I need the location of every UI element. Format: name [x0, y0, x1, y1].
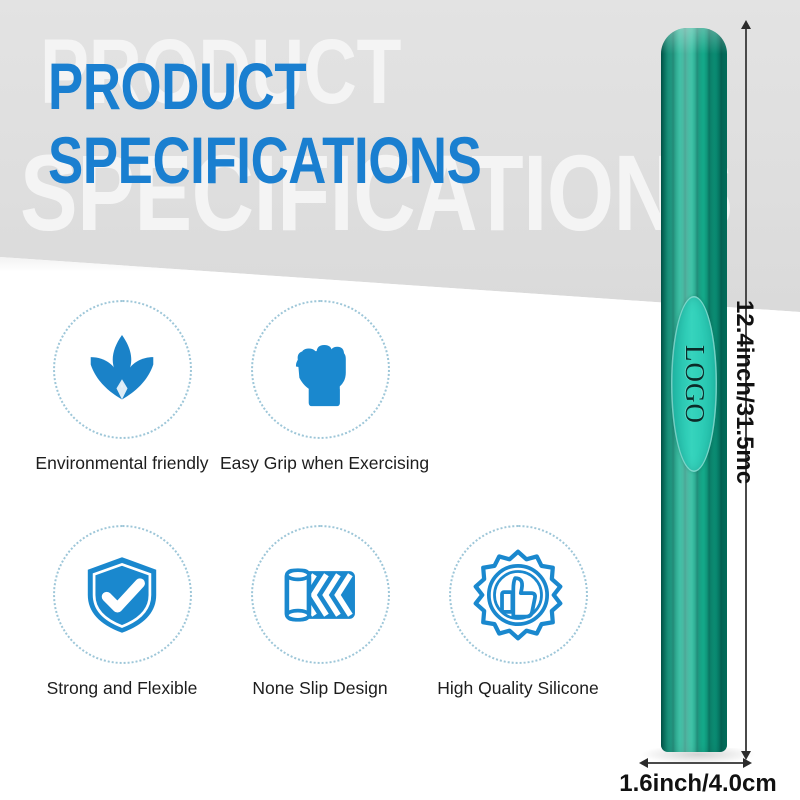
feature-item-high-quality-silicone: High Quality Silicone [418, 525, 618, 699]
feature-icon-circle [251, 300, 390, 439]
width-dimension-label: 1.6inch/4.0cm [603, 770, 793, 798]
rolled-mat-chevron-icon [274, 549, 366, 641]
infographic-canvas: PRODUCT SPECIFICATIONS PRODUCT SPECIFICA… [0, 0, 800, 800]
product-image-silicone-roller: LOGO [661, 28, 727, 752]
feature-item-easy-grip: Easy Grip when Exercising [220, 300, 420, 474]
width-dimension-arrow [647, 762, 744, 764]
feature-label: Strong and Flexible [22, 678, 222, 699]
feature-label: Easy Grip when Exercising [220, 453, 420, 474]
feature-icon-circle [449, 525, 588, 664]
shield-check-icon [77, 550, 167, 640]
feature-label: None Slip Design [220, 678, 420, 699]
feature-label: Environmental friendly [22, 453, 222, 474]
height-dimension-label: 12.4inch/31.5mc [730, 300, 758, 484]
feature-icon-circle [53, 300, 192, 439]
leaf-icon [76, 324, 168, 416]
feature-icon-circle [53, 525, 192, 664]
title-line-2: SPECIFICATIONS [48, 122, 481, 198]
page-title: PRODUCT SPECIFICATIONS PRODUCT SPECIFICA… [0, 0, 700, 250]
fist-icon [277, 327, 363, 413]
feature-grid: Environmental friendly Easy Grip when Ex… [22, 300, 642, 740]
feature-item-none-slip-design: None Slip Design [220, 525, 420, 699]
quality-badge-thumbs-up-icon [471, 548, 565, 642]
feature-icon-circle [251, 525, 390, 664]
product-logo-text: LOGO [679, 345, 710, 424]
feature-item-strong-flexible: Strong and Flexible [22, 525, 222, 699]
title-line-1: PRODUCT [48, 48, 306, 124]
feature-label: High Quality Silicone [418, 678, 618, 699]
product-logo-plate: LOGO [671, 296, 717, 472]
feature-item-environmental-friendly: Environmental friendly [22, 300, 222, 474]
